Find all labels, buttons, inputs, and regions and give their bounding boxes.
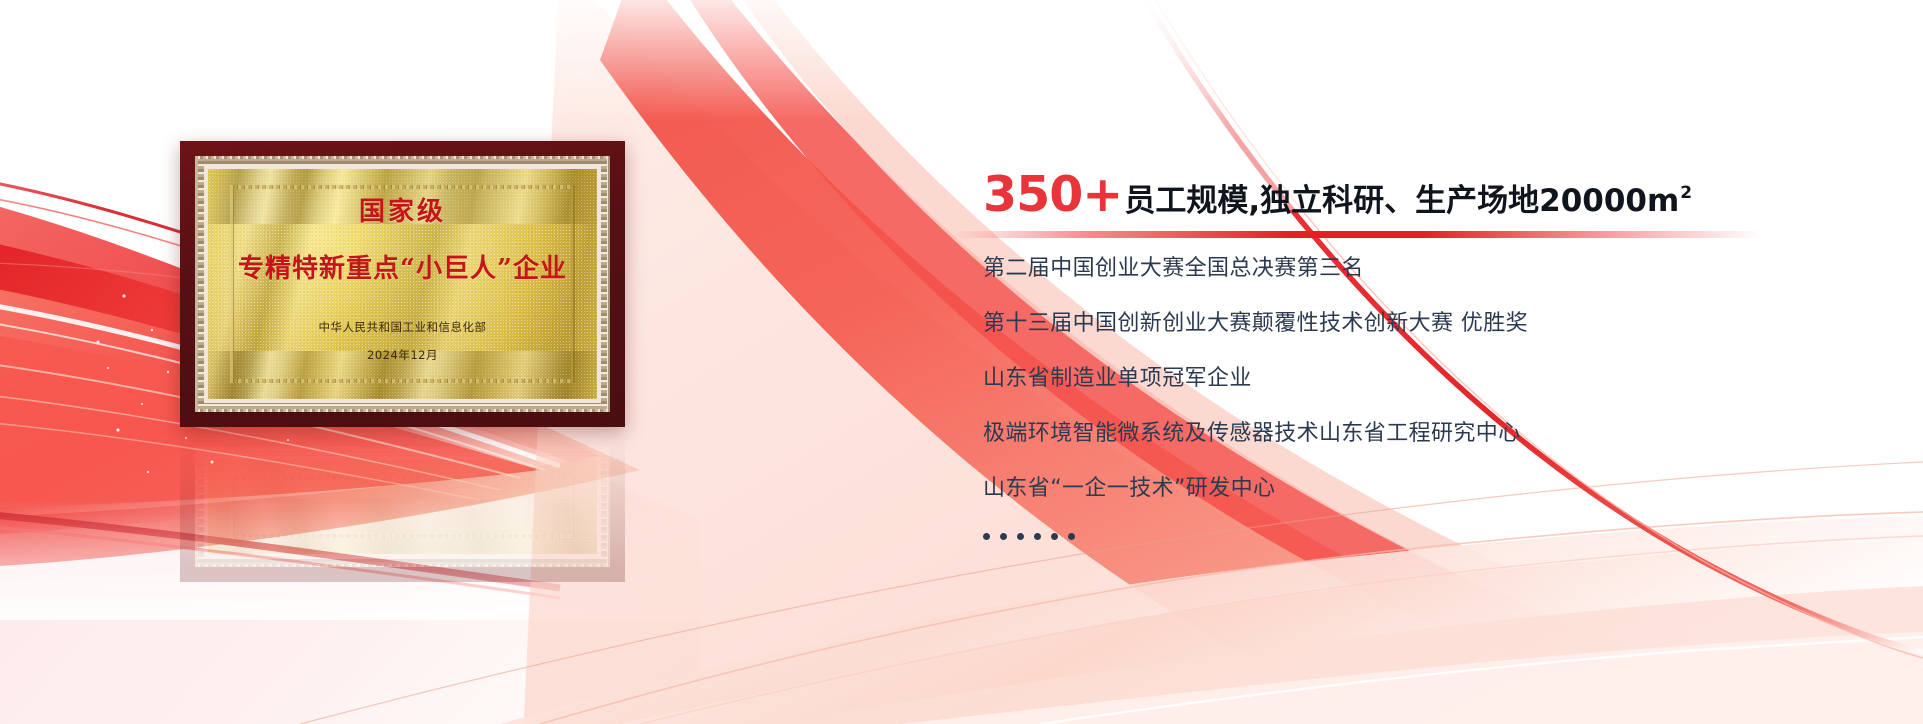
headline: 350+ 员工规模,独立科研、生产场地20000m 2 — [983, 170, 1691, 219]
plaque-text-block: 国家级 专精特新重点“小巨人”企业 中华人民共和国工业和信息化部 2024年12… — [180, 141, 625, 427]
headline-number: 350+ — [983, 170, 1122, 219]
achievements-ellipsis — [983, 533, 1528, 540]
plaque-date: 2024年12月 — [367, 347, 438, 363]
headline-superscript: 2 — [1680, 183, 1692, 203]
list-item: 极端环境智能微系统及传感器技术山东省工程研究中心 — [983, 423, 1528, 445]
ellipsis-dot — [1000, 533, 1007, 540]
list-item: 山东省制造业单项冠军企业 — [983, 368, 1528, 390]
award-plaque: 国家级 专精特新重点“小巨人”企业 中华人民共和国工业和信息化部 2024年12… — [180, 141, 625, 427]
headline-underline-rule — [952, 231, 1762, 238]
ellipsis-dot — [983, 533, 990, 540]
headline-text: 员工规模,独立科研、生产场地20000m — [1124, 186, 1679, 217]
achievement-list: 第二届中国创业大赛全国总决赛第三名 第十三届中国创新创业大赛颠覆性技术创新大赛 … — [983, 258, 1528, 540]
ellipsis-dot — [1034, 533, 1041, 540]
right-content-column: 350+ 员工规模,独立科研、生产场地20000m 2 第二届中国创业大赛全国总… — [983, 0, 1923, 724]
ellipsis-dot — [1017, 533, 1024, 540]
plaque-frame: 国家级 专精特新重点“小巨人”企业 中华人民共和国工业和信息化部 2024年12… — [180, 141, 625, 427]
list-item: 第十三届中国创新创业大赛颠覆性技术创新大赛 优胜奖 — [983, 313, 1528, 335]
ellipsis-dot — [1051, 533, 1058, 540]
list-item: 山东省“一企一技术”研发中心 — [983, 478, 1528, 500]
banner-stage: 国家级 专精特新重点“小巨人”企业 中华人民共和国工业和信息化部 2024年12… — [0, 0, 1923, 724]
plaque-title-line2: 专精特新重点“小巨人”企业 — [238, 248, 567, 285]
plaque-title-line1: 国家级 — [359, 191, 446, 228]
plaque-issuer: 中华人民共和国工业和信息化部 — [319, 319, 487, 335]
ellipsis-dot — [1068, 533, 1075, 540]
list-item: 第二届中国创业大赛全国总决赛第三名 — [983, 258, 1528, 280]
